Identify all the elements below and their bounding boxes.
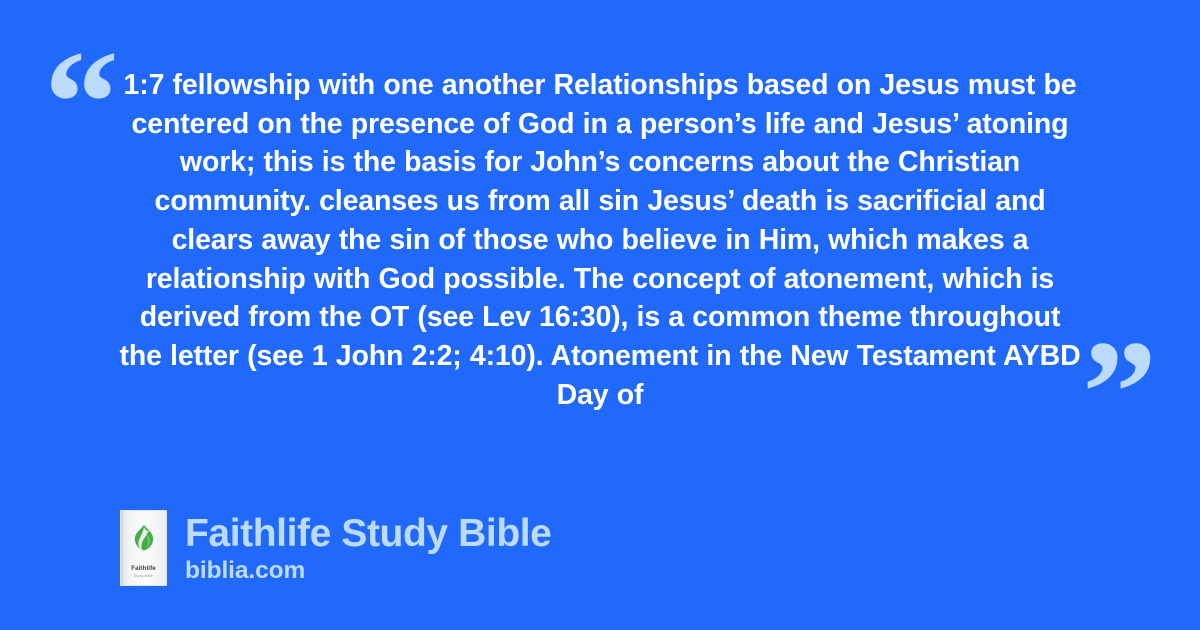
faithlife-leaf-logo <box>132 524 156 552</box>
book-cover-thumbnail: Faithlife Study Bible <box>120 510 167 586</box>
brand-footer: Faithlife Study Bible Faithlife Study Bi… <box>120 510 551 586</box>
book-cover-subtitle: Study Bible <box>134 575 153 578</box>
quote-block: 1:7 fellowship with one another Relation… <box>118 66 1082 414</box>
brand-url[interactable]: biblia.com <box>185 557 551 585</box>
quote-text: 1:7 fellowship with one another Relation… <box>118 66 1082 414</box>
close-quote-icon: ” <box>1082 318 1155 468</box>
open-quote-icon: “ <box>44 28 117 178</box>
book-spine <box>121 511 125 585</box>
brand-title: Faithlife Study Bible <box>185 512 551 556</box>
quote-poster: “ 1:7 fellowship with one another Relati… <box>0 0 1200 630</box>
brand-text-group: Faithlife Study Bible biblia.com <box>185 512 551 585</box>
book-cover-title: Faithlife <box>131 566 156 572</box>
